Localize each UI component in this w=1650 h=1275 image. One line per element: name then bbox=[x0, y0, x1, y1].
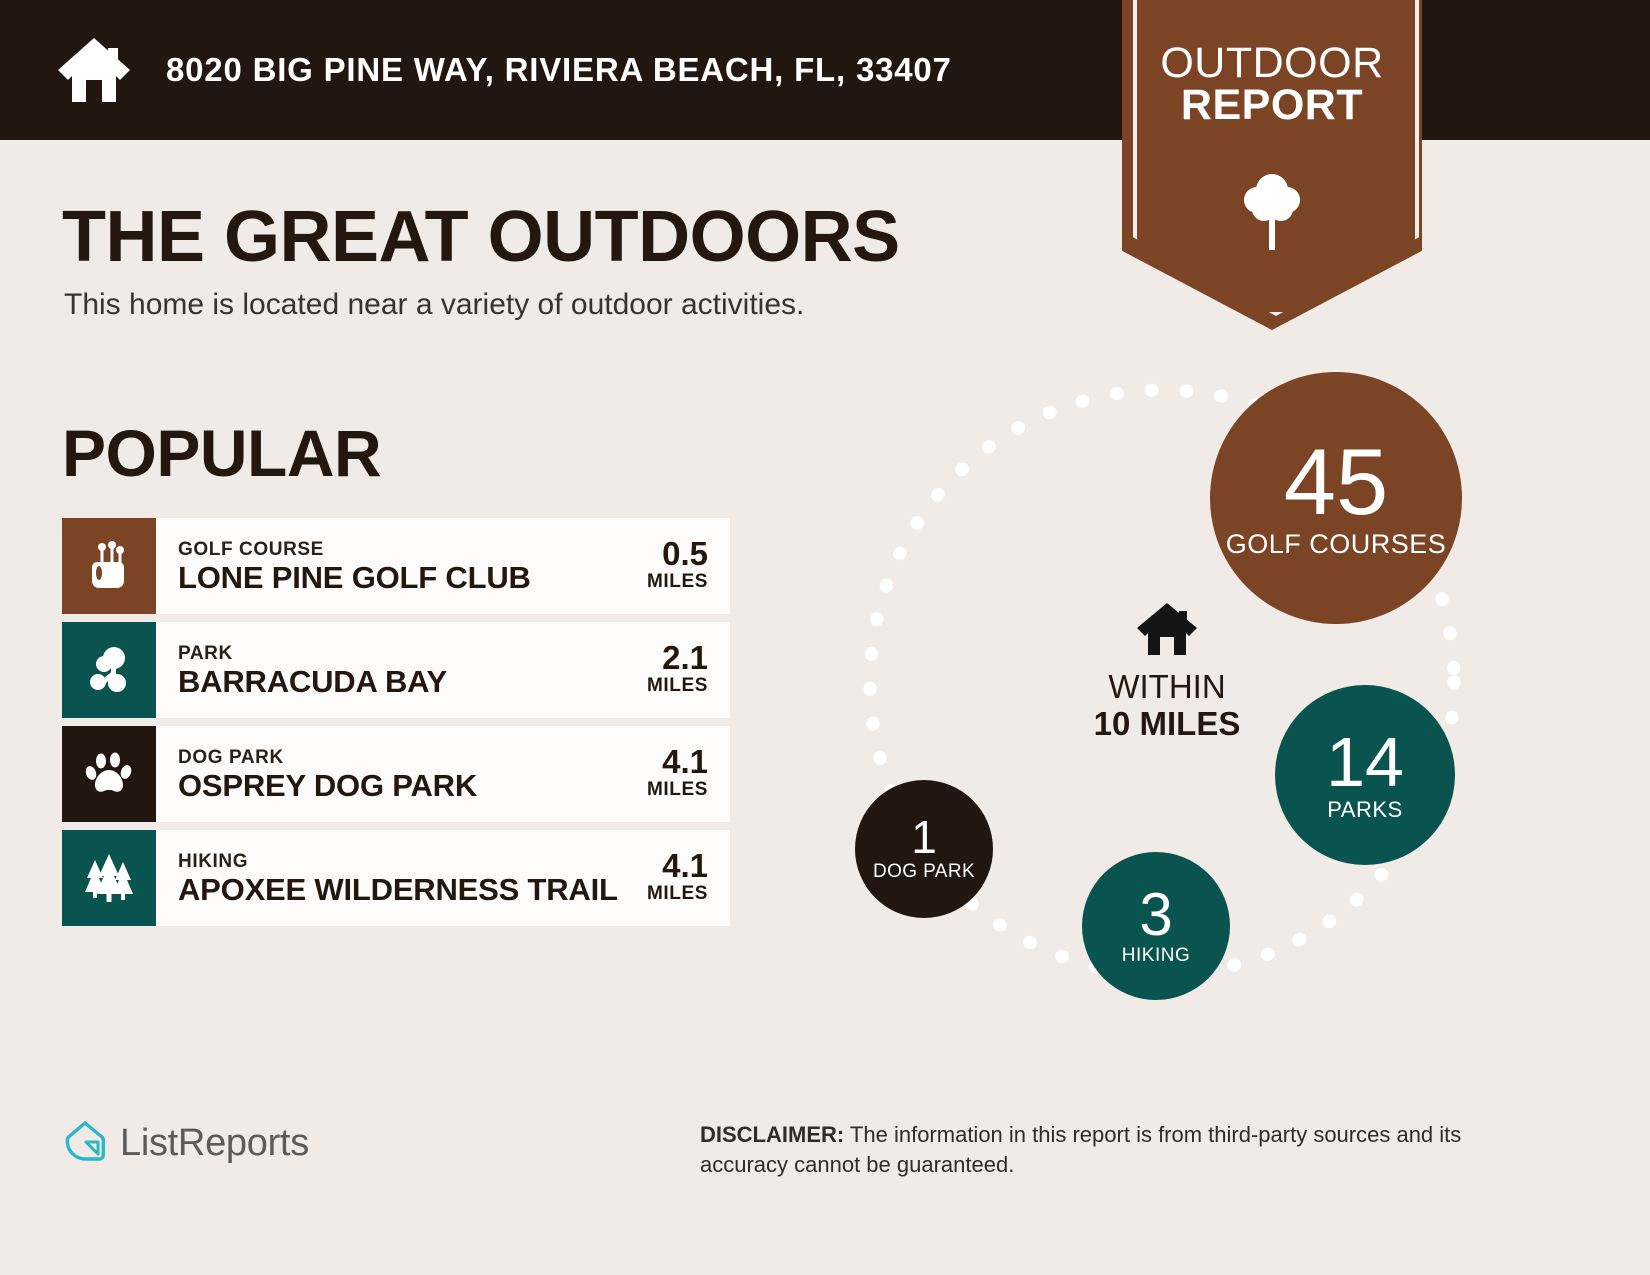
listreports-wordmark: ListReports bbox=[120, 1122, 309, 1165]
distance-unit: MILES bbox=[647, 570, 708, 595]
distance-value: 4.1 bbox=[647, 849, 708, 882]
center-label-line1: WITHIN bbox=[1072, 669, 1262, 706]
list-item-category: DOG PARK bbox=[178, 747, 647, 769]
property-address: 8020 BIG PINE WAY, RIVIERA BEACH, FL, 33… bbox=[166, 51, 952, 89]
page-subtitle: This home is located near a variety of o… bbox=[64, 288, 804, 322]
badge-line-2: REPORT bbox=[1122, 84, 1422, 126]
list-item-distance: 4.1 MILES bbox=[647, 849, 730, 907]
bubble-hiking: 3 HIKING bbox=[1082, 852, 1230, 1000]
within-10-miles-bubble-chart: 45 GOLF COURSES 14 PARKS 3 HIKING 1 DOG … bbox=[840, 360, 1630, 1060]
listreports-logo[interactable]: ListReports bbox=[62, 1118, 309, 1169]
disclaimer-label: DISCLAIMER: bbox=[700, 1122, 844, 1147]
bubble-parks: 14 PARKS bbox=[1275, 685, 1455, 865]
diagram-center: WITHIN 10 MILES bbox=[1072, 600, 1262, 743]
tree-icon bbox=[1240, 168, 1304, 252]
popular-heading: POPULAR bbox=[62, 415, 381, 491]
disclaimer: DISCLAIMER: The information in this repo… bbox=[700, 1120, 1520, 1179]
bubble-value: 14 bbox=[1326, 729, 1404, 796]
list-item[interactable]: GOLF COURSE LONE PINE GOLF CLUB 0.5 MILE… bbox=[62, 518, 730, 614]
list-item-name: LONE PINE GOLF CLUB bbox=[178, 561, 647, 594]
bubble-label: HIKING bbox=[1122, 946, 1190, 966]
list-item-category: PARK bbox=[178, 643, 647, 665]
bubble-label: PARKS bbox=[1327, 798, 1402, 821]
bubble-dog-park: 1 DOG PARK bbox=[855, 780, 993, 918]
park-trees-icon bbox=[62, 622, 156, 718]
paw-print-icon bbox=[62, 726, 156, 822]
home-icon bbox=[56, 34, 132, 106]
bubble-golf-courses: 45 GOLF COURSES bbox=[1210, 372, 1462, 624]
popular-places-list: GOLF COURSE LONE PINE GOLF CLUB 0.5 MILE… bbox=[62, 518, 730, 938]
bubble-value: 3 bbox=[1139, 886, 1172, 943]
distance-value: 2.1 bbox=[647, 641, 708, 674]
distance-value: 4.1 bbox=[647, 745, 708, 778]
home-icon bbox=[1135, 645, 1199, 662]
list-item[interactable]: PARK BARRACUDA BAY 2.1 MILES bbox=[62, 622, 730, 718]
pine-trees-icon bbox=[62, 830, 156, 926]
list-item-distance: 4.1 MILES bbox=[647, 745, 730, 803]
list-item-category: GOLF COURSE bbox=[178, 539, 647, 561]
bubble-value: 45 bbox=[1284, 437, 1389, 526]
bubble-value: 1 bbox=[911, 816, 937, 860]
page-title: THE GREAT OUTDOORS bbox=[62, 196, 900, 278]
bubble-label: GOLF COURSES bbox=[1226, 530, 1447, 558]
distance-value: 0.5 bbox=[647, 537, 708, 570]
list-item[interactable]: HIKING APOXEE WILDERNESS TRAIL 4.1 MILES bbox=[62, 830, 730, 926]
list-item-distance: 0.5 MILES bbox=[647, 537, 730, 595]
list-item-name: APOXEE WILDERNESS TRAIL bbox=[178, 873, 647, 906]
badge-title: OUTDOOR REPORT bbox=[1122, 42, 1422, 126]
badge-line-1: OUTDOOR bbox=[1160, 39, 1383, 87]
list-item[interactable]: DOG PARK OSPREY DOG PARK 4.1 MILES bbox=[62, 726, 730, 822]
list-item-distance: 2.1 MILES bbox=[647, 641, 730, 699]
golf-bag-icon bbox=[62, 518, 156, 614]
distance-unit: MILES bbox=[647, 882, 708, 907]
list-item-category: HIKING bbox=[178, 851, 647, 873]
list-item-name: OSPREY DOG PARK bbox=[178, 769, 647, 802]
listreports-house-logo-icon bbox=[62, 1118, 108, 1169]
distance-unit: MILES bbox=[647, 674, 708, 699]
center-label-line2: 10 MILES bbox=[1072, 706, 1262, 743]
distance-unit: MILES bbox=[647, 778, 708, 803]
list-item-name: BARRACUDA BAY bbox=[178, 665, 647, 698]
bubble-label: DOG PARK bbox=[873, 862, 975, 882]
